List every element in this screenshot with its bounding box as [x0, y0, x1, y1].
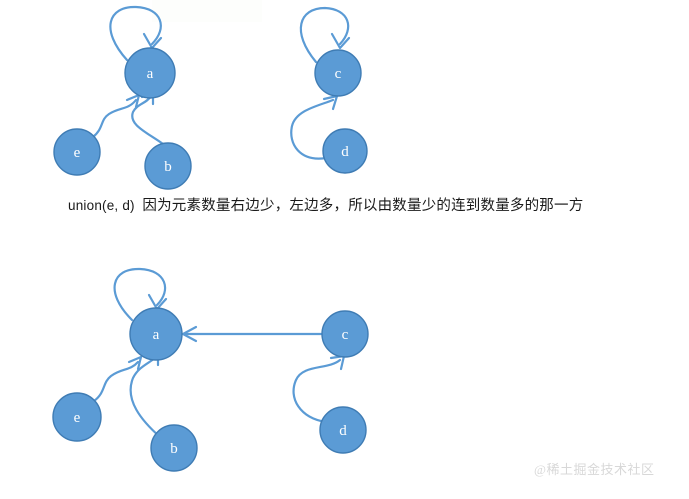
- node-d-after[interactable]: d: [320, 407, 366, 453]
- node-e-after[interactable]: e: [53, 393, 101, 441]
- edge-b-to-a-after: [131, 357, 160, 437]
- after-union-diagram: a e b c d: [53, 269, 368, 471]
- node-group-before: a e b c d: [54, 48, 367, 189]
- node-a-after[interactable]: a: [130, 308, 182, 360]
- watermark-text: @稀土掘金技术社区: [534, 459, 654, 478]
- union-caption: union(e, d) 因为元素数量右边少，左边多，所以由数量少的连到数量多的那…: [68, 194, 583, 215]
- edge-group-after: [94, 269, 344, 437]
- diagram-canvas: a e b c d: [0, 0, 689, 499]
- node-c-before[interactable]: c: [315, 50, 361, 96]
- node-c-after[interactable]: c: [322, 311, 368, 357]
- union-operation-text: union(e, d): [68, 198, 135, 213]
- union-explanation-text: 因为元素数量右边少，左边多，所以由数量少的连到数量多的那一方: [142, 198, 583, 214]
- edge-e-to-a-before: [93, 100, 136, 137]
- node-e-before[interactable]: e: [54, 129, 100, 175]
- before-union-diagram: a e b c d: [0, 0, 689, 499]
- node-a-before[interactable]: a: [125, 48, 175, 98]
- node-b-after[interactable]: b: [151, 425, 197, 471]
- node-d-before[interactable]: d: [323, 129, 367, 173]
- node-group-after: a e b c d: [53, 308, 368, 471]
- node-b-before[interactable]: b: [145, 143, 191, 189]
